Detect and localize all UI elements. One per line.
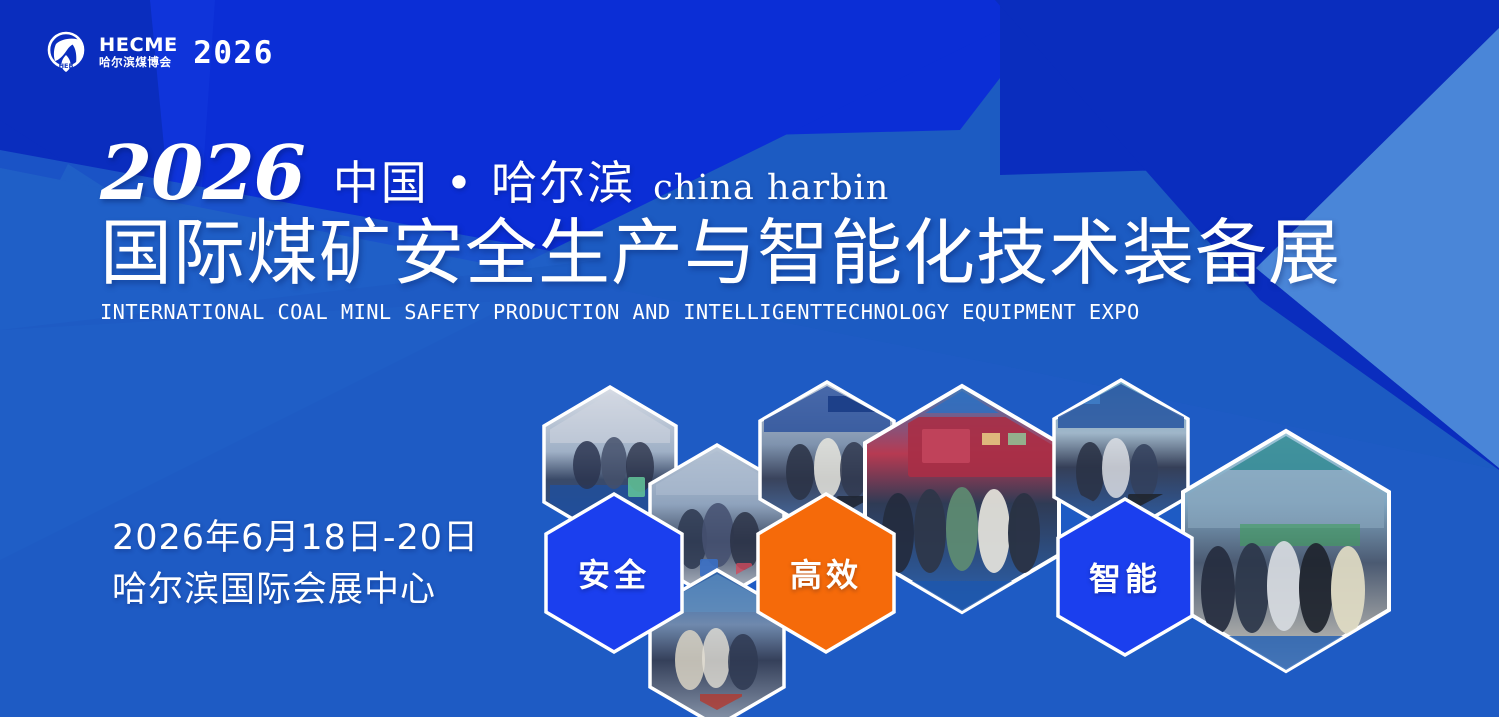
brand-logo-lockup: HEB HECME 哈尔滨煤博会 2026 xyxy=(46,30,274,76)
headline-year-city-row: 2026 中国 • 哈尔滨 china harbin xyxy=(100,138,1341,213)
event-date: 2026年6月18日-20日 xyxy=(112,513,479,565)
event-info-block: 2026年6月18日-20日 哈尔滨国际会展中心 xyxy=(112,513,479,617)
headline-block: 2026 中国 • 哈尔滨 china harbin 国际煤矿安全生产与智能化技… xyxy=(100,138,1341,324)
hecme-circle-leaf-droplet-icon: HEB xyxy=(46,30,90,76)
badge-safety[interactable]: 安全 xyxy=(544,492,684,654)
logo-name-cn: 哈尔滨煤博会 xyxy=(99,58,176,70)
headline-year: 2026 xyxy=(100,138,305,209)
event-venue: 哈尔滨国际会展中心 xyxy=(112,565,479,617)
photo-hex-group-photo-hall xyxy=(1180,428,1392,674)
logo-name-en: HECME xyxy=(99,36,178,55)
headline-city-cn: 中国 • 哈尔滨 xyxy=(333,147,635,213)
svg-text:HEB: HEB xyxy=(59,62,74,70)
headline-subtitle-en: INTERNATIONAL COAL MINL SAFETY PRODUCTIO… xyxy=(100,300,1335,324)
badge-efficiency[interactable]: 高效 xyxy=(756,492,896,654)
exhibition-poster: HEB HECME 哈尔滨煤博会 2026 2026 中国 • 哈尔滨 chin… xyxy=(0,0,1499,717)
logo-year: 2026 xyxy=(193,38,274,69)
badge-intelligence[interactable]: 智能 xyxy=(1056,497,1194,657)
headline-city-en: china harbin xyxy=(653,168,889,208)
headline-title-cn: 国际煤矿安全生产与智能化技术装备展 xyxy=(100,217,1341,290)
